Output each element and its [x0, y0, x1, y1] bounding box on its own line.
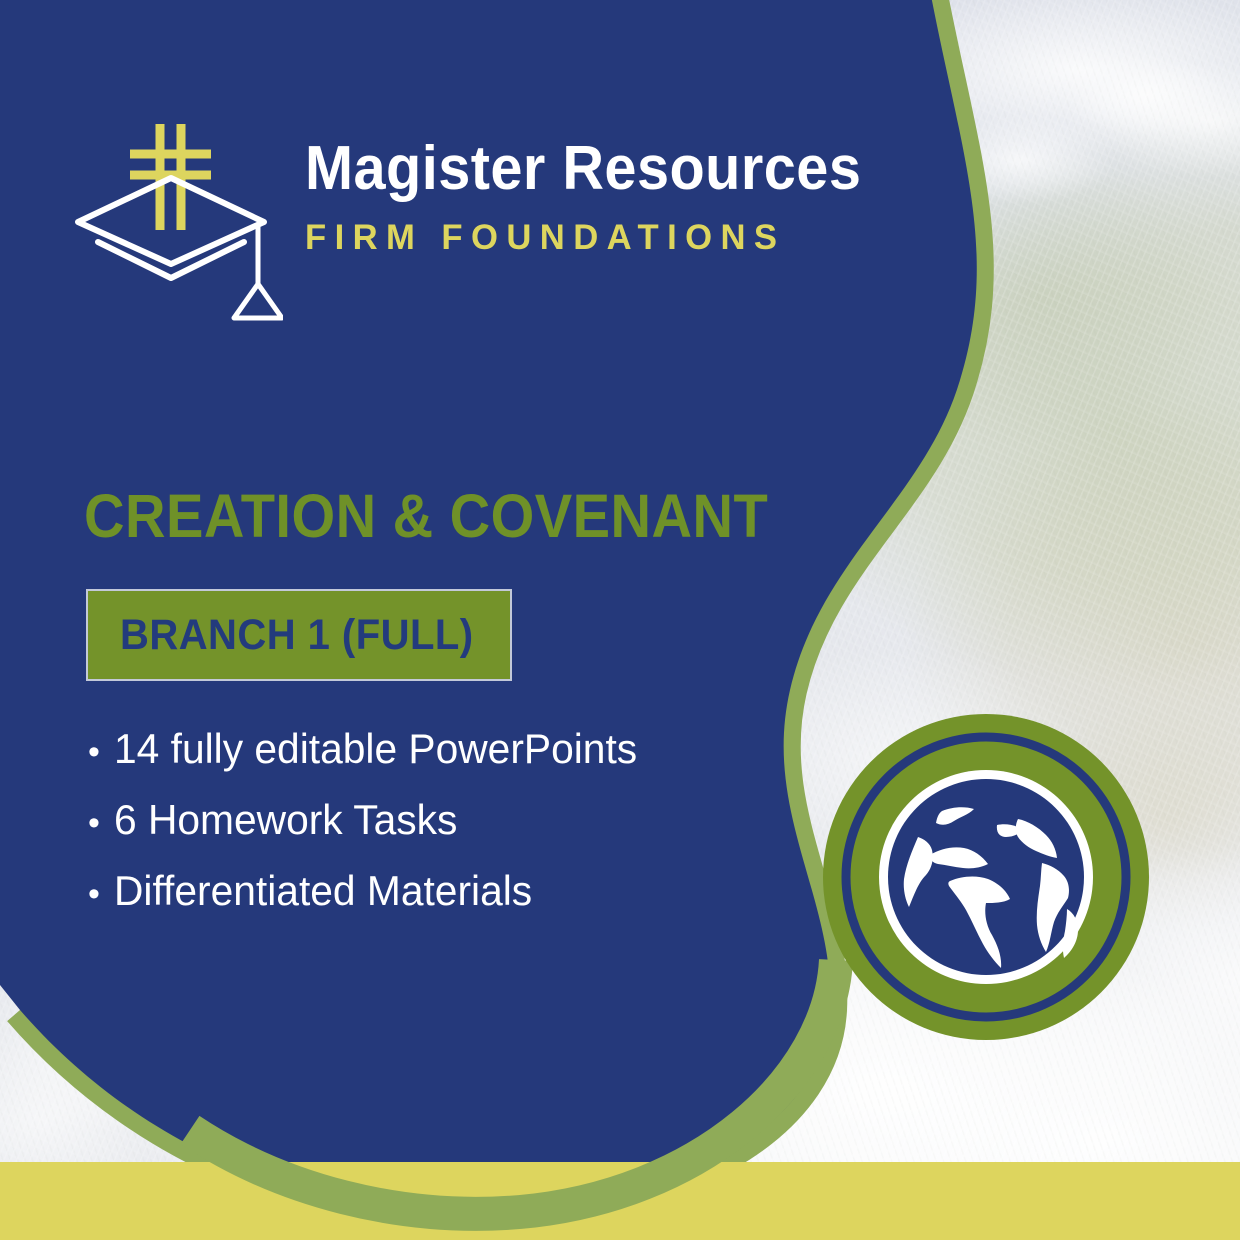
bullet-icon: •: [74, 806, 114, 840]
bullet-icon: •: [74, 735, 114, 769]
list-item-label: Differentiated Materials: [114, 870, 532, 912]
feature-list: • 14 fully editable PowerPoints • 6 Home…: [74, 728, 653, 941]
brand-text-block: Magister Resources FIRM FOUNDATIONS: [305, 112, 903, 255]
branch-badge-label: BRANCH 1 (FULL): [120, 614, 474, 657]
page-title: CREATION & COVENANT: [84, 486, 768, 547]
list-item-label: 14 fully editable PowerPoints: [114, 728, 637, 770]
list-item: • 6 Homework Tasks: [74, 799, 653, 841]
brand-tagline: FIRM FOUNDATIONS: [305, 220, 897, 255]
globe-icon: [822, 713, 1150, 1041]
graduation-cap-cross-icon: [68, 112, 283, 327]
promo-poster: Magister Resources FIRM FOUNDATIONS CREA…: [0, 0, 1240, 1240]
list-item: • 14 fully editable PowerPoints: [74, 728, 653, 770]
branch-badge: BRANCH 1 (FULL): [86, 589, 512, 681]
globe-sphere: [888, 779, 1084, 975]
list-item-label: 6 Homework Tasks: [114, 799, 457, 841]
bullet-icon: •: [74, 877, 114, 911]
brand-name: Magister Resources: [305, 138, 861, 200]
list-item: • Differentiated Materials: [74, 870, 653, 912]
poster-content: Magister Resources FIRM FOUNDATIONS CREA…: [0, 0, 1240, 1240]
brand-lockup: Magister Resources FIRM FOUNDATIONS: [68, 112, 903, 327]
